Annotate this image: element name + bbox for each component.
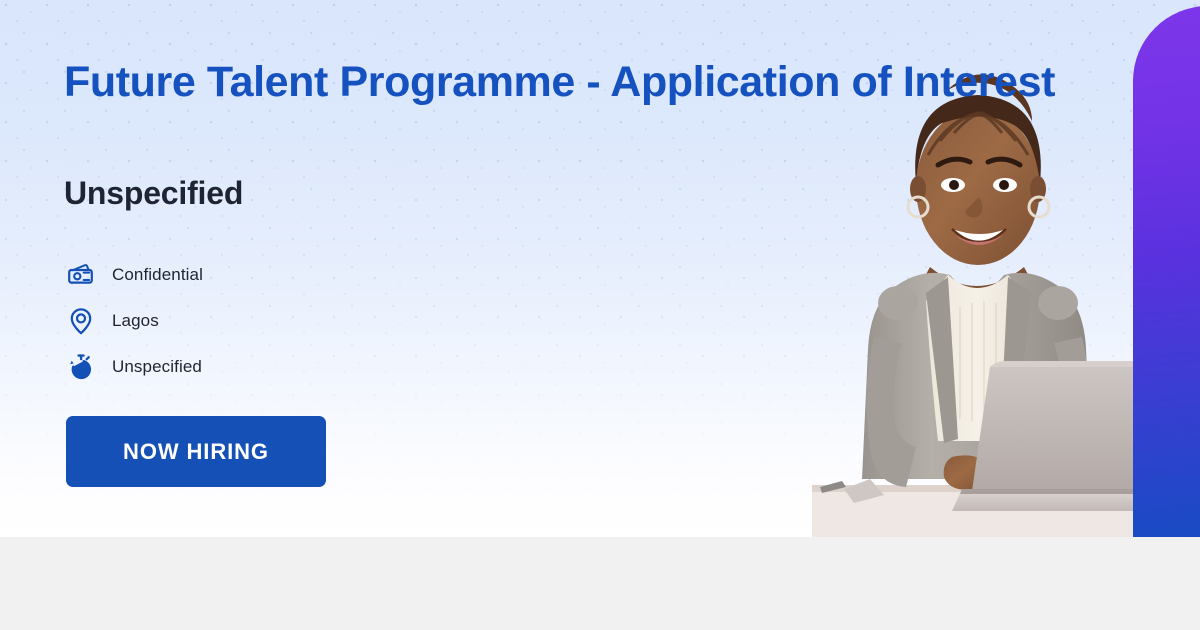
job-meta-list: Confidential Lagos <box>64 252 484 390</box>
meta-label-location: Lagos <box>112 311 159 331</box>
job-card: Future Talent Programme - Application of… <box>0 0 1200 537</box>
meta-row-salary: Confidential <box>64 252 484 298</box>
job-banner: Future Talent Programme - Application of… <box>0 0 1200 630</box>
now-hiring-button[interactable]: NOW HIRING <box>66 416 326 487</box>
location-pin-icon <box>64 304 98 338</box>
wallet-money-icon <box>64 258 98 292</box>
page-title: Future Talent Programme - Application of… <box>64 58 1200 107</box>
meta-row-job-type: Unspecified <box>64 344 484 390</box>
candidate-photo <box>812 37 1142 537</box>
stopwatch-icon <box>64 350 98 384</box>
banner-footer: obberman <box>0 537 1200 630</box>
meta-label-salary: Confidential <box>112 265 203 285</box>
decorative-gradient-pill <box>1133 6 1200 624</box>
meta-row-location: Lagos <box>64 298 484 344</box>
meta-label-job-type: Unspecified <box>112 357 202 377</box>
company-name: Unspecified <box>64 175 243 212</box>
